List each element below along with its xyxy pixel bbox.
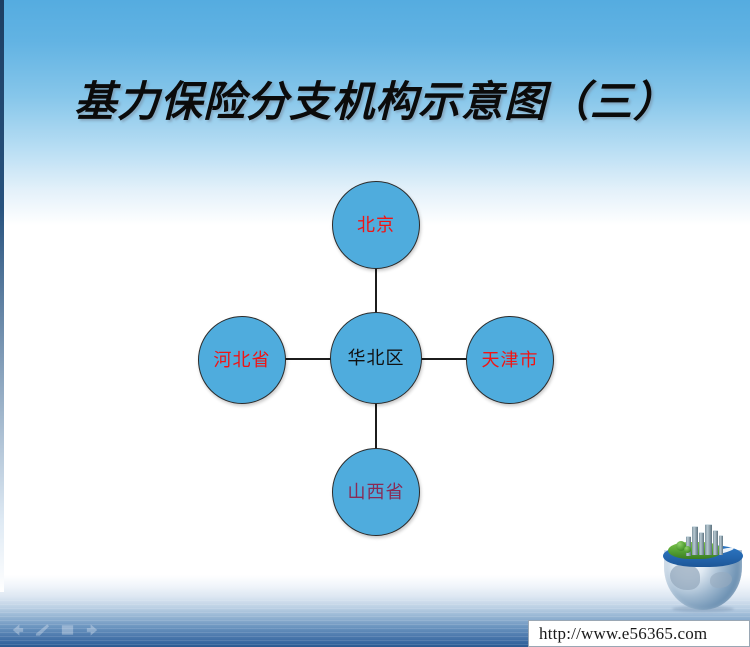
org-structure-diagram: 北京 河北省 华北区 天津市 山西省 <box>0 0 750 647</box>
website-url-text: http://www.e56365.com <box>539 624 707 644</box>
connector-center-to-bottom <box>375 403 377 449</box>
node-branch-left-label: 河北省 <box>214 351 271 369</box>
presentation-slide: 基力保险分支机构示意图（三） 北京 河北省 华北区 天津市 山西省 <box>0 0 750 647</box>
building-icon <box>713 530 718 555</box>
previous-arrow-icon[interactable] <box>10 623 25 637</box>
page-icon[interactable] <box>60 623 75 637</box>
node-branch-top-label: 北京 <box>357 216 395 234</box>
next-arrow-icon[interactable] <box>85 623 100 637</box>
building-icon <box>699 532 704 555</box>
building-icon <box>719 535 723 555</box>
node-center-region[interactable]: 华北区 <box>330 312 422 404</box>
presentation-nav-controls[interactable] <box>10 620 110 640</box>
pen-icon[interactable] <box>35 623 50 637</box>
connector-center-to-top <box>375 268 377 314</box>
website-url-box[interactable]: http://www.e56365.com <box>528 620 750 647</box>
connector-center-to-left <box>285 358 331 360</box>
connector-center-to-right <box>420 358 467 360</box>
globe-city-logo <box>662 528 744 612</box>
node-center-region-label: 华北区 <box>348 349 405 367</box>
node-branch-top[interactable]: 北京 <box>332 181 420 269</box>
node-branch-right-label: 天津市 <box>482 351 539 369</box>
building-icon <box>692 526 698 555</box>
node-branch-left[interactable]: 河北省 <box>198 316 286 404</box>
node-branch-bottom-label: 山西省 <box>348 483 405 501</box>
tree-icon <box>684 546 691 553</box>
node-branch-right[interactable]: 天津市 <box>466 316 554 404</box>
building-icon <box>705 524 712 555</box>
node-branch-bottom[interactable]: 山西省 <box>332 448 420 536</box>
